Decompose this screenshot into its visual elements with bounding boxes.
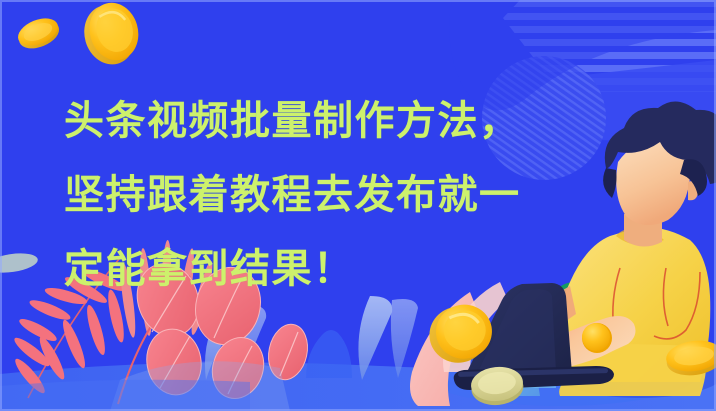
coin-in-hand — [582, 323, 612, 353]
banner-artwork — [0, 0, 716, 411]
banner-canvas: 头条视频批量制作方法， 坚持跟着教程去发布就一 定能拿到结果！ — [0, 0, 716, 411]
